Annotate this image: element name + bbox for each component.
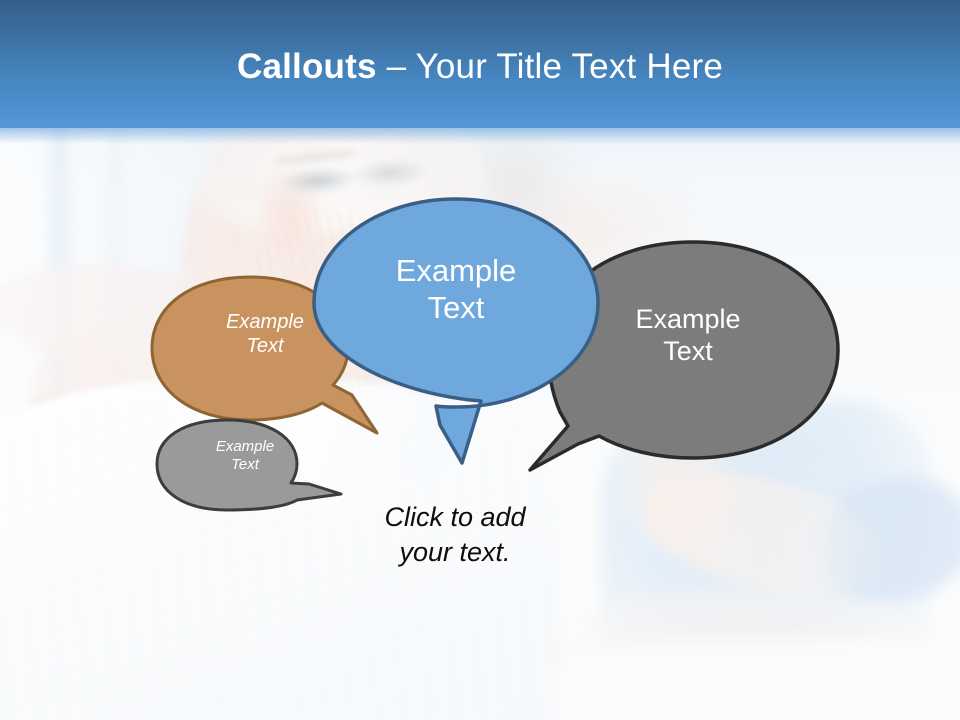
page-title-bold: Callouts xyxy=(237,47,377,86)
slide-canvas: Callouts – Your Title Text Here Example … xyxy=(0,0,960,720)
body-placeholder-text[interactable]: Click to add your text. xyxy=(330,500,580,569)
page-title-rest: Your Title Text Here xyxy=(416,47,724,86)
callout-blue[interactable]: Example Text xyxy=(308,195,604,470)
page-title-separator: – xyxy=(377,47,416,86)
callout-blue-shape xyxy=(308,195,604,470)
page-title: Callouts – Your Title Text Here xyxy=(0,47,960,87)
